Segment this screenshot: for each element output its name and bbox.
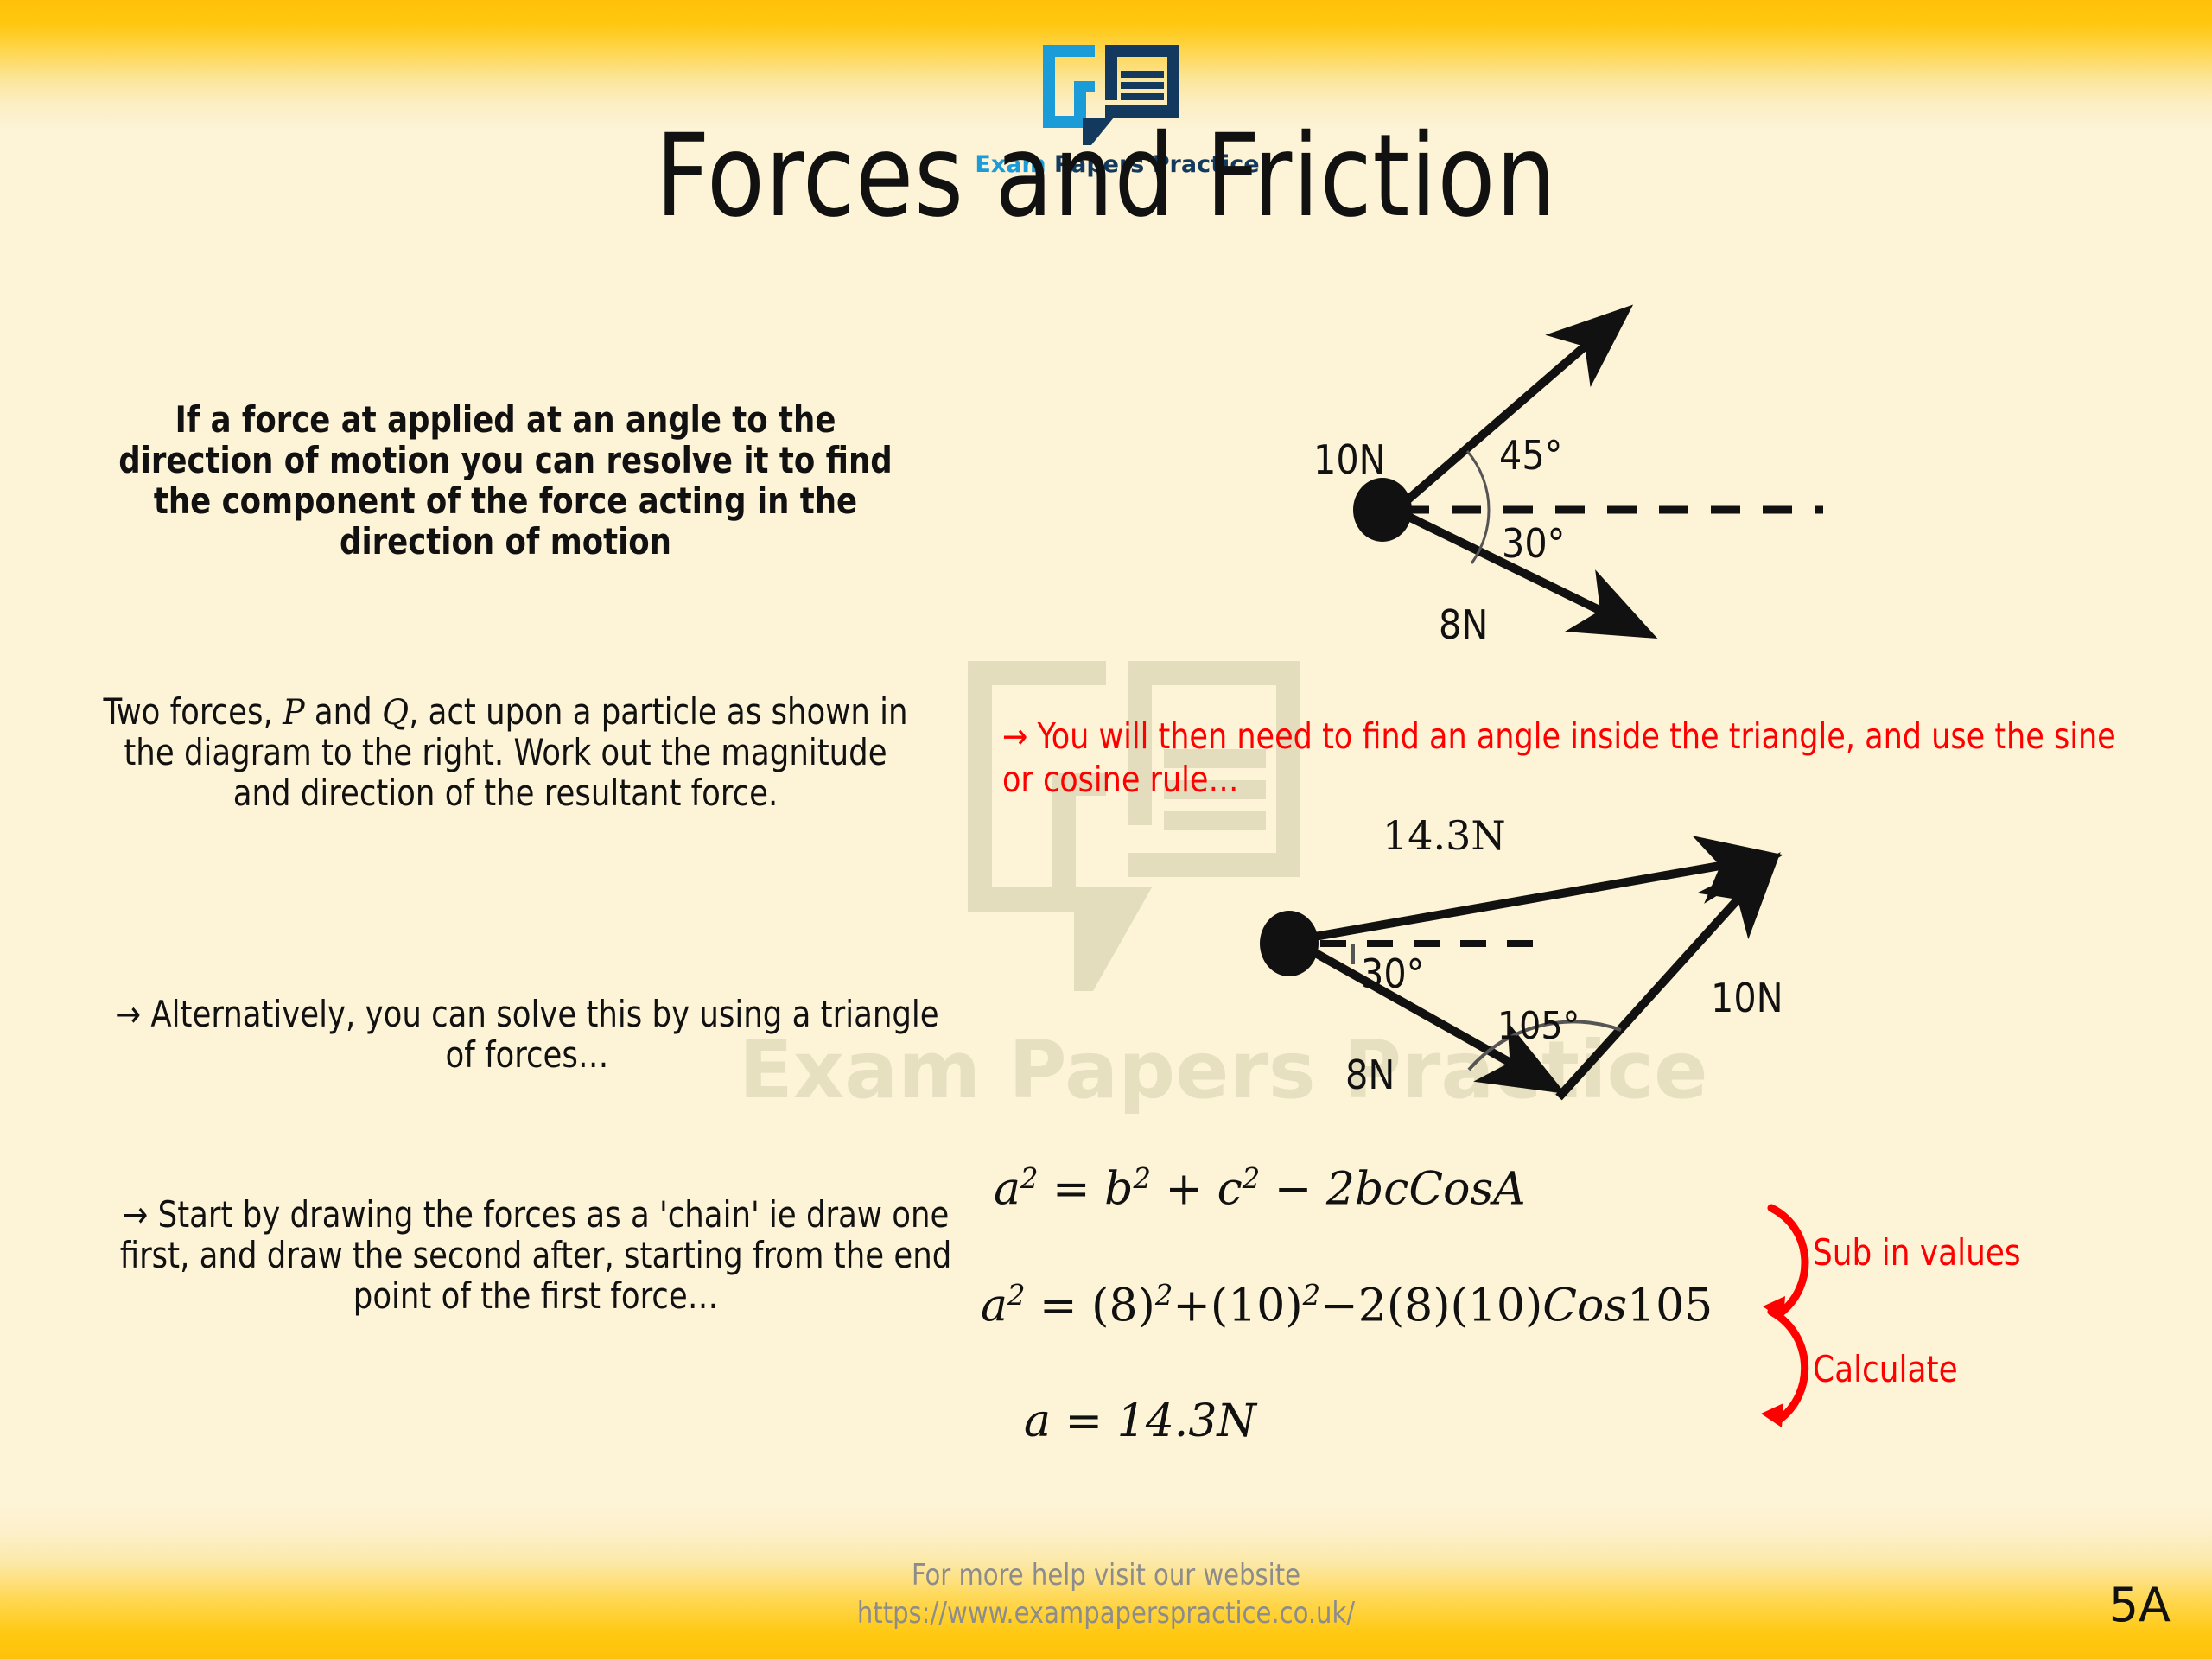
label-8n: 8N [1439,601,1488,648]
question-paragraph: Two forces, P and Q, act upon a particle… [95,691,915,813]
triangle-of-forces-diagram: 14.3N 30° 105° 8N 10N [1210,812,1901,1141]
eq2-body2: +(10) [1173,1280,1302,1332]
sub-in-values-label: Sub in values [1813,1231,2021,1274]
intro-paragraph: If a force at applied at an angle to the… [95,399,915,562]
eq1-part4: − 2bcCosA [1260,1163,1525,1215]
eq2-a: a [981,1280,1007,1332]
force-variable-q: Q [382,692,409,733]
force-variable-p: P [283,692,304,733]
label-angle-105: 105° [1497,1004,1580,1048]
alternative-method-note: → Alternatively, you can solve this by u… [105,994,950,1075]
page-number: 5A [2109,1578,2171,1632]
question-text-mid: and [305,690,382,733]
calculate-label: Calculate [1813,1348,1958,1390]
footer-website-url[interactable]: https://www.exampaperspractice.co.uk/ [55,1595,2157,1633]
eq2-cos: Cos [1542,1280,1627,1332]
label-8n: 8N [1345,1052,1395,1098]
eq1-part3: + c [1151,1163,1243,1215]
label-8n: 8N [1322,259,1371,260]
label-10n: 10N [1313,436,1386,483]
sine-cosine-rule-note: → You will then need to find an angle in… [1002,715,2119,801]
label-angle-45: 45° [1499,432,1562,479]
eq1-a: a [994,1163,1020,1215]
label-angle-30: 30° [1502,520,1565,567]
eq2-angle: 105 [1627,1280,1713,1332]
particle-dot [1260,911,1319,976]
label-angle-30: 30° [1361,950,1424,997]
footer-help-text: For more help visit our website [55,1557,2157,1595]
cosine-rule-result: a = 14.3N [1024,1395,1256,1447]
label-10n: 10N [1711,975,1783,1021]
label-resultant-14-3n: 14.3N [1382,812,1506,859]
eq2-body3: −2(8)(10) [1320,1280,1542,1332]
particle-dot [1353,478,1412,542]
eq1-part2: = b [1039,1163,1134,1215]
cosine-rule-substituted: a2 = (8)2+(10)2−2(8)(10)Cos105 [981,1279,1713,1332]
question-text-pre: Two forces, [103,690,283,733]
page-title: Forces and Friction [88,119,2123,233]
eq2-body: = (8) [1026,1280,1155,1332]
resultant-vector-14-3n [1305,857,1770,938]
force-vector-10n [1398,314,1623,508]
slide-root: Exam Papers Practice Exam Pa [0,0,2212,1659]
angle-arc-45 [1467,451,1489,510]
cosine-rule-formula: a2 = b2 + c2 − 2bcCosA [994,1162,1526,1215]
footer: For more help visit our website https://… [55,1557,2157,1632]
chain-method-note: → Start by drawing the forces as a 'chai… [105,1194,966,1316]
force-resolution-diagram: 10N 8N 10N 8N 45° 30° [1279,259,2091,709]
